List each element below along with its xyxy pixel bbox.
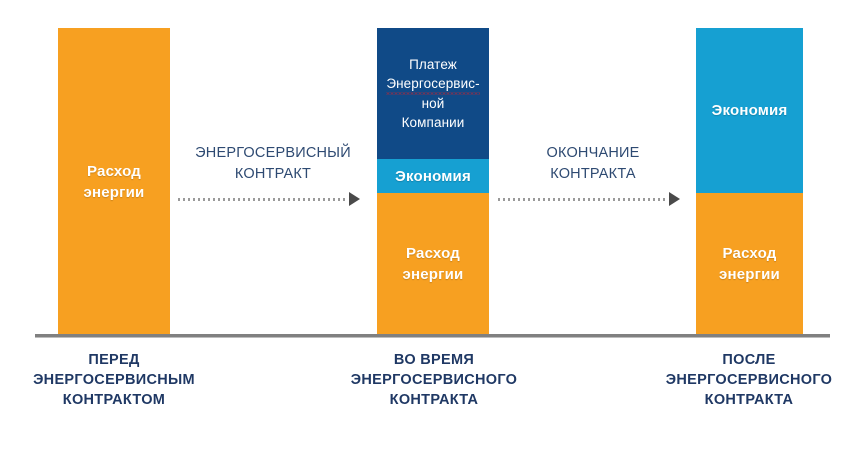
transition-arrow-end: [498, 193, 688, 205]
diagram-canvas: Расход энергии Платеж Энергосервис- ной …: [0, 0, 866, 458]
segment-energy-use-before: Расход энергии: [58, 28, 170, 335]
arrow-head-icon: [349, 192, 360, 206]
segment-energy-use-after: Расход энергии: [696, 193, 803, 335]
transition-arrow-start: [178, 193, 368, 205]
esco-payment-line-3: ной: [422, 96, 445, 111]
caption-before: ПЕРЕД ЭНЕРГОСЕРВИСНЫМ КОНТРАКТОМ: [10, 350, 218, 410]
segment-savings-during: Экономия: [377, 159, 489, 193]
transition-contract-start: ЭНЕРГОСЕРВИСНЫЙ КОНТРАКТ: [178, 143, 368, 185]
transition-contract-end: ОКОНЧАНИЕ КОНТРАКТА: [498, 143, 688, 185]
esco-payment-line-4: Компании: [402, 115, 465, 130]
transition-label: ЭНЕРГОСЕРВИСНЫЙ КОНТРАКТ: [178, 143, 368, 185]
transition-label: ОКОНЧАНИЕ КОНТРАКТА: [498, 143, 688, 185]
esco-payment-line-1: Платеж: [409, 57, 457, 72]
segment-savings-after: Экономия: [696, 28, 803, 193]
bar-during: Платеж Энергосервис- ной Компании Эконом…: [377, 28, 489, 335]
arrow-head-icon: [669, 192, 680, 206]
segment-label: Платеж Энергосервис- ной Компании: [382, 55, 483, 132]
segment-label: Экономия: [708, 100, 792, 121]
bar-before: Расход энергии: [58, 28, 170, 335]
segment-energy-use-during: Расход энергии: [377, 193, 489, 335]
caption-after: ПОСЛЕ ЭНЕРГОСЕРВИСНОГО КОНТРАКТА: [643, 350, 855, 410]
bar-after: Экономия Расход энергии: [696, 28, 803, 335]
arrow-line: [498, 198, 668, 201]
esco-payment-line-2: Энергосервис-: [386, 74, 479, 94]
arrow-line: [178, 198, 348, 201]
segment-label: Расход энергии: [58, 161, 170, 203]
axis-baseline: [35, 334, 830, 337]
segment-esco-payment: Платеж Энергосервис- ной Компании: [377, 28, 489, 159]
segment-label: Расход энергии: [696, 243, 803, 285]
segment-label: Экономия: [391, 166, 475, 187]
segment-label: Расход энергии: [377, 243, 489, 285]
caption-during: ВО ВРЕМЯ ЭНЕРГОСЕРВИСНОГО КОНТРАКТА: [328, 350, 540, 410]
